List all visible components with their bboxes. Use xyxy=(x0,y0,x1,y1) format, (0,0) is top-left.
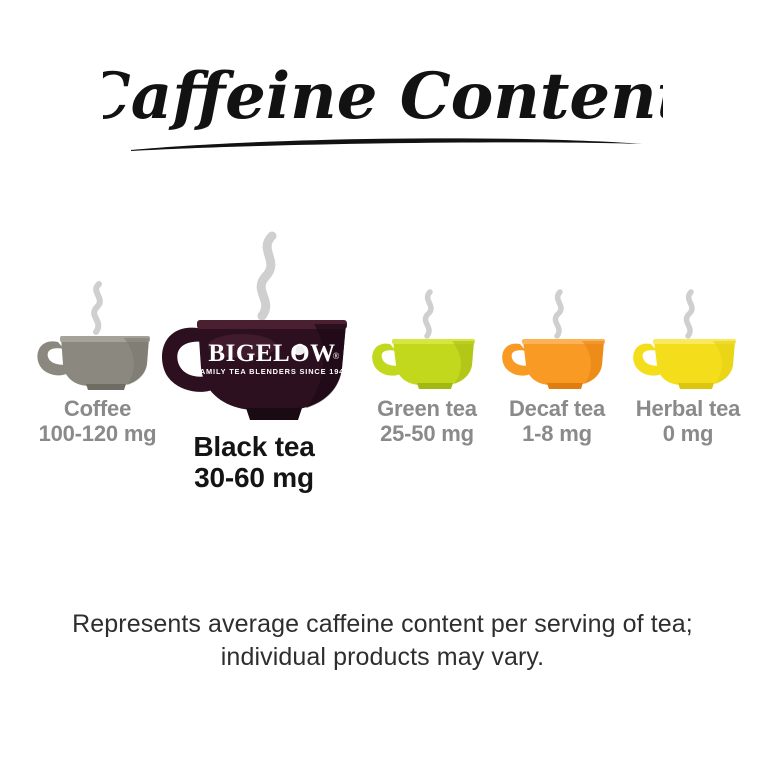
cup-amount-black-tea: 30-60 mg xyxy=(148,462,360,493)
steam-icon xyxy=(425,292,431,336)
cup-foot xyxy=(547,383,583,389)
cup-foot xyxy=(417,383,453,389)
steam-icon xyxy=(686,292,692,336)
herbal-tea-cup-icon xyxy=(625,286,751,391)
bigelow-logo: BIGELOW ® FAMILY TEA BLENDERS SINCE 1945 xyxy=(195,340,349,376)
steam-icon xyxy=(555,292,561,336)
cup-item-decaf-tea[interactable]: Decaf tea 1-8 mg xyxy=(492,286,622,446)
title-script-art: Caffeine Content xyxy=(103,46,663,166)
page-title-text: Caffeine Content xyxy=(103,59,663,134)
green-tea-cup-icon xyxy=(364,286,490,391)
footnote-caption: Represents average caffeine content per … xyxy=(0,608,765,675)
cup-item-green-tea[interactable]: Green tea 25-50 mg xyxy=(362,286,492,446)
page-title: Caffeine Content xyxy=(0,46,765,166)
black-tea-cup-icon: BIGELOW ® FAMILY TEA BLENDERS SINCE 1945 xyxy=(154,228,354,423)
cup-label-decaf-tea: Decaf tea xyxy=(492,397,622,422)
cup-foot xyxy=(86,384,126,390)
infographic-canvas: Caffeine Content xyxy=(0,0,765,765)
tea-leaf-icon xyxy=(294,344,305,355)
cup-foot xyxy=(678,383,714,389)
cup-amount-decaf-tea: 1-8 mg xyxy=(492,422,622,447)
decaf-tea-cup-icon xyxy=(494,286,620,391)
cups-row: Coffee 100-120 mg xyxy=(0,228,765,538)
cup-amount-green-tea: 25-50 mg xyxy=(362,422,492,447)
caption-line-1: Represents average caffeine content per … xyxy=(0,608,765,641)
cup-foot xyxy=(246,408,302,420)
cup-label-black-tea: Black tea xyxy=(148,431,360,462)
title-underline-swash xyxy=(131,138,643,151)
steam-icon xyxy=(94,284,100,332)
cup-label-herbal-tea: Herbal tea xyxy=(620,397,756,422)
cup-item-herbal-tea[interactable]: Herbal tea 0 mg xyxy=(620,286,756,446)
coffee-cup-icon xyxy=(28,276,168,391)
caption-line-2: individual products may vary. xyxy=(0,641,765,674)
cup-item-black-tea[interactable]: BIGELOW ® FAMILY TEA BLENDERS SINCE 1945… xyxy=(148,228,360,494)
registered-mark-icon: ® xyxy=(333,351,340,361)
bigelow-wordmark: BIGELOW xyxy=(208,340,335,367)
cup-label-green-tea: Green tea xyxy=(362,397,492,422)
bigelow-tagline: FAMILY TEA BLENDERS SINCE 1945 xyxy=(195,367,349,376)
steam-icon xyxy=(261,236,272,316)
cup-amount-herbal-tea: 0 mg xyxy=(620,422,756,447)
